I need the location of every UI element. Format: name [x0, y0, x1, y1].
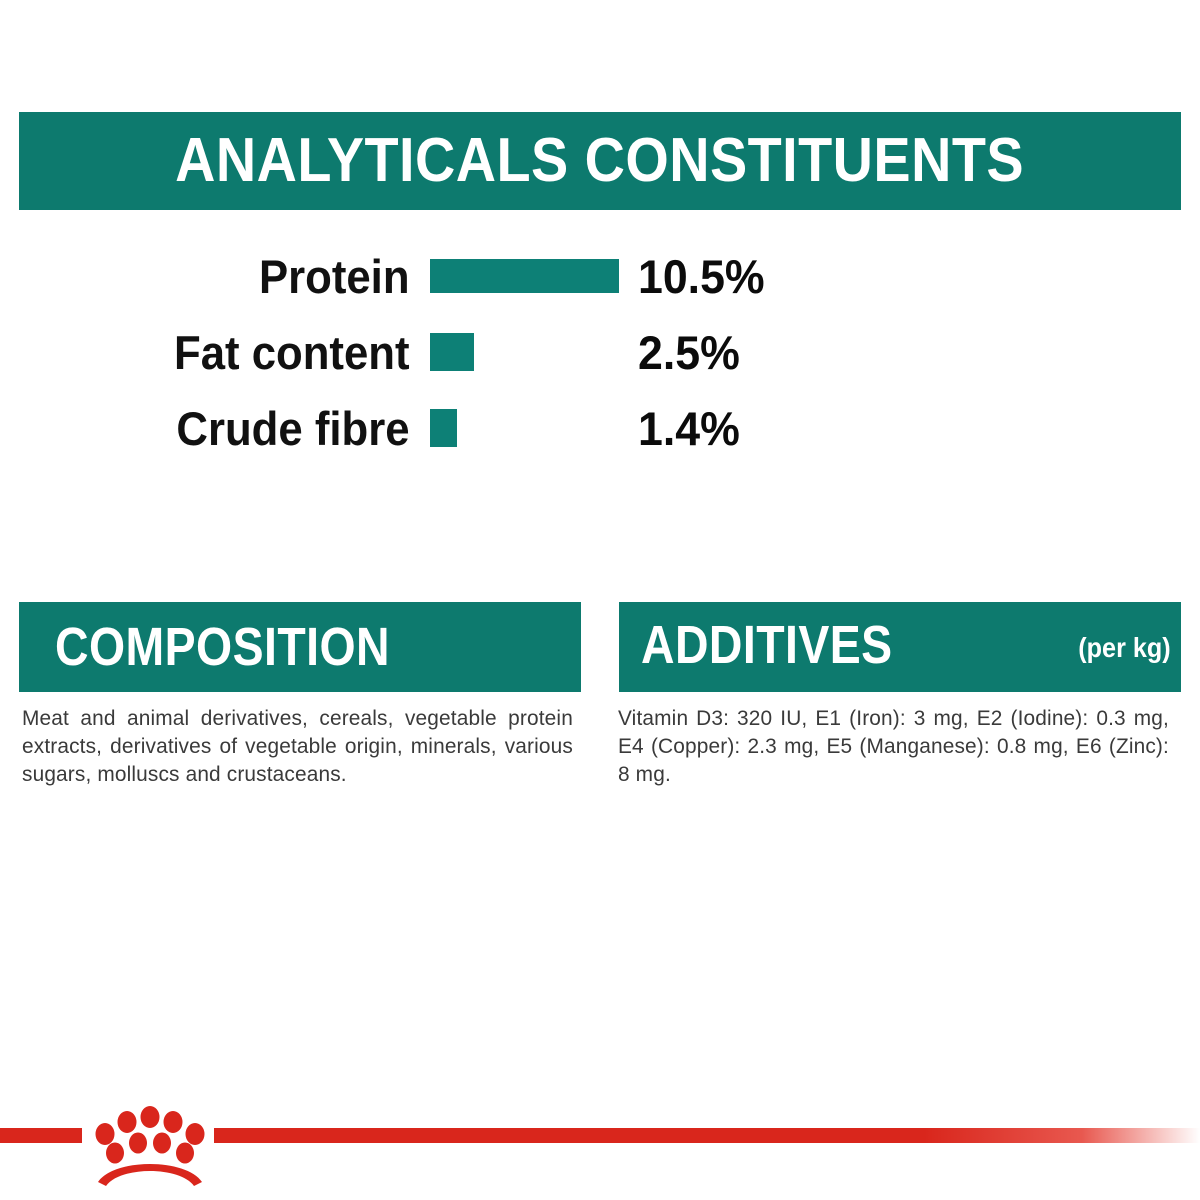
constituent-row-fat-content: Fat content 2.5% — [0, 314, 1200, 390]
constituent-label: Protein — [30, 253, 430, 300]
constituent-value: 10.5% — [638, 253, 765, 300]
analyticals-heading: ANALYTICALS CONSTITUENTS — [176, 130, 1025, 192]
constituent-bar — [430, 259, 619, 293]
constituent-row-crude-fibre: Crude fibre 1.4% — [0, 390, 1200, 466]
constituent-bar — [430, 333, 474, 371]
additives-banner: ADDITIVES (per kg) — [619, 602, 1181, 692]
additives-body-text: Vitamin D3: 320 IU, E1 (Iron): 3 mg, E2 … — [618, 704, 1169, 788]
composition-heading: COMPOSITION — [55, 620, 390, 674]
additives-heading: ADDITIVES — [641, 618, 893, 672]
constituent-bar-track — [430, 409, 630, 447]
footer-rule-left — [0, 1128, 82, 1143]
composition-banner: COMPOSITION — [19, 602, 581, 692]
additives-heading-group: ADDITIVES (per kg) — [641, 602, 1181, 656]
royal-canin-crown-icon — [84, 1096, 216, 1188]
constituent-row-protein: Protein 10.5% — [0, 238, 1200, 314]
footer-rule-right — [214, 1128, 1200, 1143]
analyticals-constituents-banner: ANALYTICALS CONSTITUENTS — [19, 112, 1181, 210]
additives-subheading: (per kg) — [1079, 634, 1171, 662]
product-label-panel: ANALYTICALS CONSTITUENTS Protein 10.5% F… — [0, 0, 1200, 1200]
constituent-label: Crude fibre — [30, 405, 430, 452]
constituent-bar-track — [430, 259, 630, 293]
constituent-bar-track — [430, 333, 630, 371]
analyticals-chart: Protein 10.5% Fat content 2.5% Crude fib… — [0, 238, 1200, 466]
constituent-value: 2.5% — [638, 329, 740, 376]
constituent-bar — [430, 409, 457, 447]
composition-body-text: Meat and animal derivatives, cereals, ve… — [22, 704, 573, 788]
constituent-label: Fat content — [30, 329, 430, 376]
constituent-value: 1.4% — [638, 405, 740, 452]
